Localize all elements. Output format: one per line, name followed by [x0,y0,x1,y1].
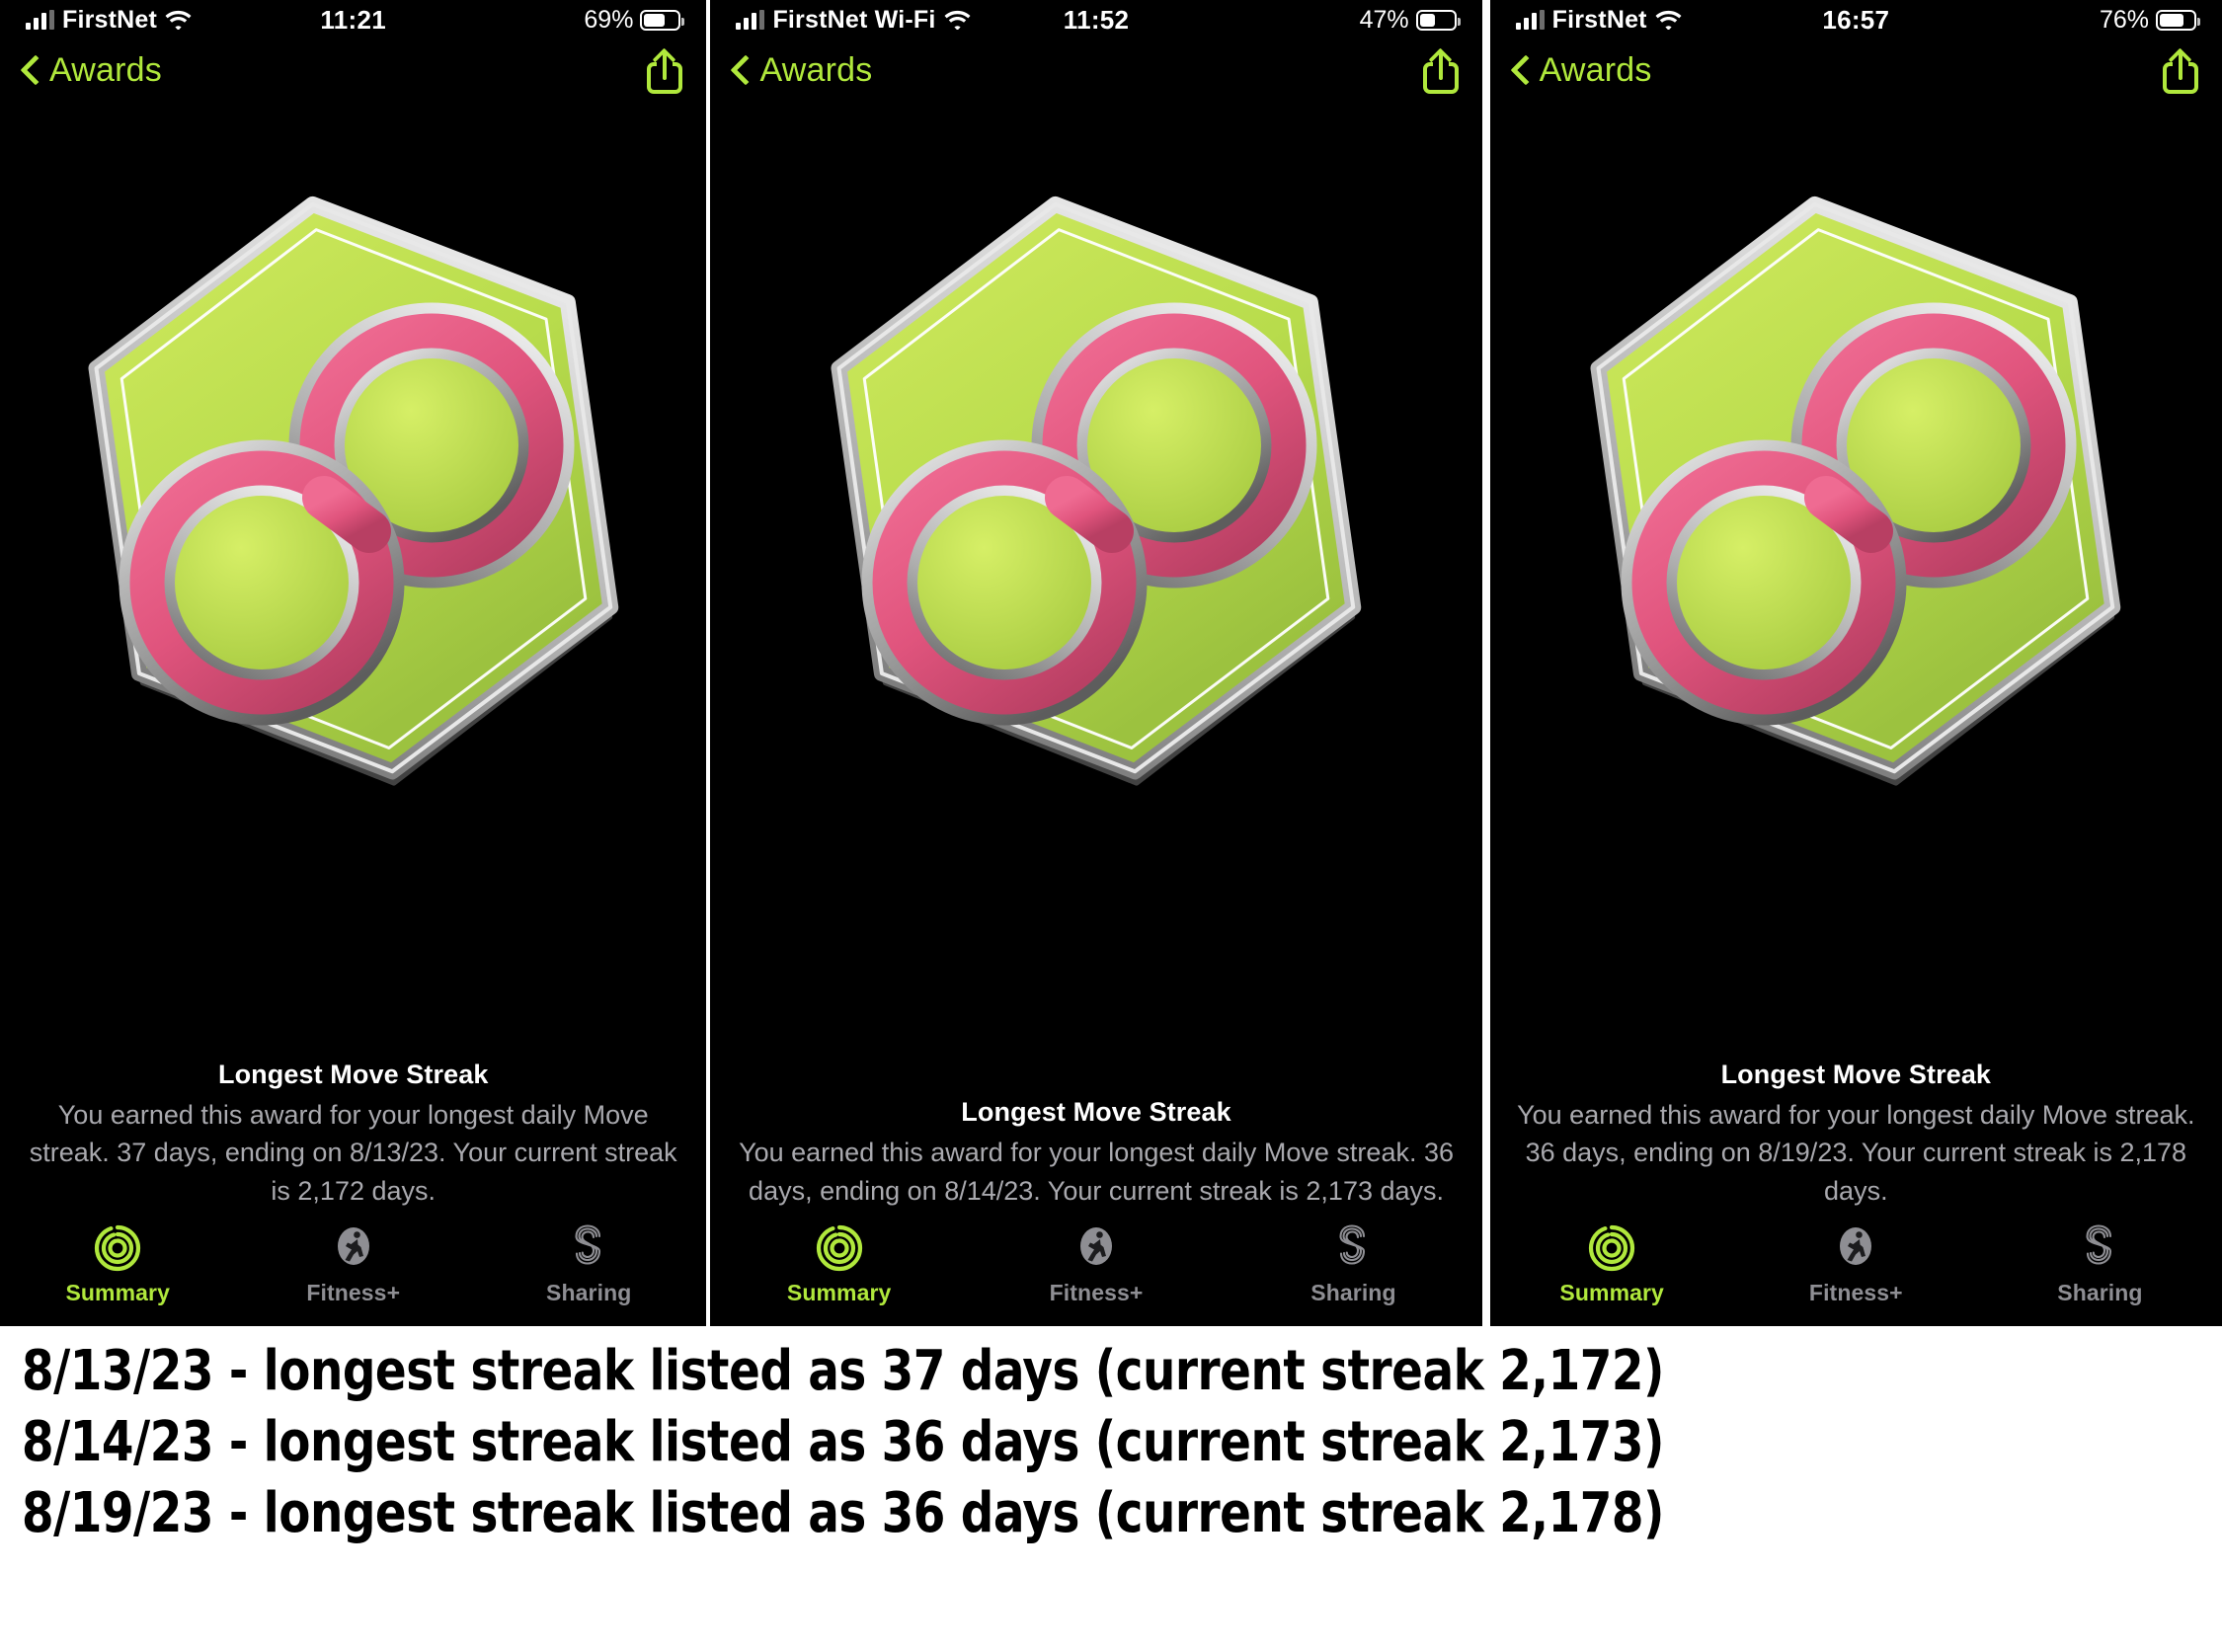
battery-percent-label: 76% [2100,6,2149,35]
status-bar-right: 76% [2100,6,2196,35]
award-description: You earned this award for your longest d… [1508,1096,2204,1210]
longest-move-streak-medal [760,180,1432,812]
navigation-bar: Awards [0,39,706,101]
runner-icon [1071,1223,1121,1273]
status-bar-left: FirstNet Wi-Fi [736,6,970,35]
carrier-label: FirstNet Wi-Fi [772,6,935,35]
status-bar-left: FirstNet [26,6,192,35]
tab-bar: Summary Fitness+ [0,1216,706,1326]
activity-rings-icon [815,1223,864,1273]
wifi-icon [165,10,192,30]
share-icon[interactable] [1421,46,1461,94]
tab-fitness-plus-label: Fitness+ [1050,1280,1144,1306]
runner-icon [1831,1223,1880,1273]
cellular-bars-icon [736,10,764,30]
tab-bar: Summary Fitness+ [710,1216,1481,1326]
tab-sharing-label: Sharing [546,1280,631,1306]
sharing-icon [564,1223,613,1273]
caption-line: 8/13/23 - longest streak listed as 37 da… [22,1344,2048,1399]
tab-sharing[interactable]: Sharing [471,1223,706,1306]
award-medal-container [710,101,1481,891]
battery-icon [1416,10,1457,31]
award-title: Longest Move Streak [1508,1060,2204,1090]
tab-summary-label: Summary [1559,1280,1664,1306]
tab-summary-label: Summary [787,1280,892,1306]
tab-bar: Summary Fitness+ [1490,1216,2222,1326]
caption-line: 8/14/23 - longest streak listed as 36 da… [22,1415,2048,1470]
back-button[interactable]: Awards [1512,51,1652,90]
award-text-block: Longest Move Streak You earned this awar… [1490,1060,2222,1210]
battery-icon [2156,10,2196,31]
cellular-bars-icon [1516,10,1545,30]
back-button[interactable]: Awards [732,51,872,90]
phone-panel-3: FirstNet 16:57 76% Awards [1482,0,2222,1326]
status-bar-right: 47% [1360,6,1457,35]
phone-screenshot-strip: FirstNet 11:21 69% Awards [0,0,2222,1326]
tab-summary-label: Summary [65,1280,170,1306]
back-button-label: Awards [49,51,162,90]
cellular-bars-icon [26,10,54,30]
activity-rings-icon [1587,1223,1636,1273]
tab-sharing[interactable]: Sharing [1225,1223,1481,1306]
carrier-label: FirstNet [62,6,157,35]
longest-move-streak-medal [1530,180,2182,812]
award-text-block: Longest Move Streak You earned this awar… [710,1097,1481,1210]
back-button-label: Awards [759,51,872,90]
carrier-label: FirstNet [1552,6,1647,35]
screenshot-root: FirstNet 11:21 69% Awards [0,0,2222,1652]
battery-percent-label: 69% [584,6,633,35]
tab-summary[interactable]: Summary [0,1223,235,1306]
status-bar: FirstNet 16:57 76% [1490,0,2222,39]
caption-line: 8/19/23 - longest streak listed as 36 da… [22,1486,2048,1541]
phone-panel-1: FirstNet 11:21 69% Awards [0,0,706,1326]
tab-summary[interactable]: Summary [1490,1223,1734,1306]
status-bar-left: FirstNet [1516,6,1682,35]
award-medal-container [1490,101,2222,891]
battery-icon [640,10,680,31]
share-icon[interactable] [645,46,684,94]
tab-summary[interactable]: Summary [710,1223,967,1306]
battery-percent-label: 47% [1360,6,1409,35]
chevron-left-icon [732,55,750,85]
tab-fitness-plus-label: Fitness+ [306,1280,400,1306]
sharing-icon [2075,1223,2124,1273]
wifi-icon [944,10,971,30]
caption-block: 8/13/23 - longest streak listed as 37 da… [0,1326,2222,1652]
award-description: You earned this award for your longest d… [18,1096,688,1210]
navigation-bar: Awards [710,39,1481,101]
share-icon[interactable] [2161,46,2200,94]
status-bar: FirstNet 11:21 69% [0,0,706,39]
tab-sharing-label: Sharing [1310,1280,1395,1306]
sharing-icon [1328,1223,1378,1273]
wifi-icon [1655,10,1682,30]
longest-move-streak-medal [28,180,679,812]
status-bar-right: 69% [584,6,680,35]
tab-sharing[interactable]: Sharing [1978,1223,2222,1306]
tab-fitness-plus[interactable]: Fitness+ [235,1223,470,1306]
tab-fitness-plus[interactable]: Fitness+ [968,1223,1225,1306]
award-description: You earned this award for your longest d… [728,1134,1464,1210]
chevron-left-icon [22,55,40,85]
award-title: Longest Move Streak [18,1060,688,1090]
navigation-bar: Awards [1490,39,2222,101]
chevron-left-icon [1512,55,1530,85]
status-bar: FirstNet Wi-Fi 11:52 47% [710,0,1481,39]
award-medal-container [0,101,706,891]
award-text-block: Longest Move Streak You earned this awar… [0,1060,706,1210]
runner-icon [329,1223,378,1273]
award-title: Longest Move Streak [728,1097,1464,1128]
tab-sharing-label: Sharing [2057,1280,2142,1306]
phone-panel-2: FirstNet Wi-Fi 11:52 47% Awards [706,0,1481,1326]
back-button[interactable]: Awards [22,51,162,90]
activity-rings-icon [93,1223,142,1273]
tab-fitness-plus-label: Fitness+ [1809,1280,1903,1306]
back-button-label: Awards [1540,51,1652,90]
tab-fitness-plus[interactable]: Fitness+ [1734,1223,1978,1306]
